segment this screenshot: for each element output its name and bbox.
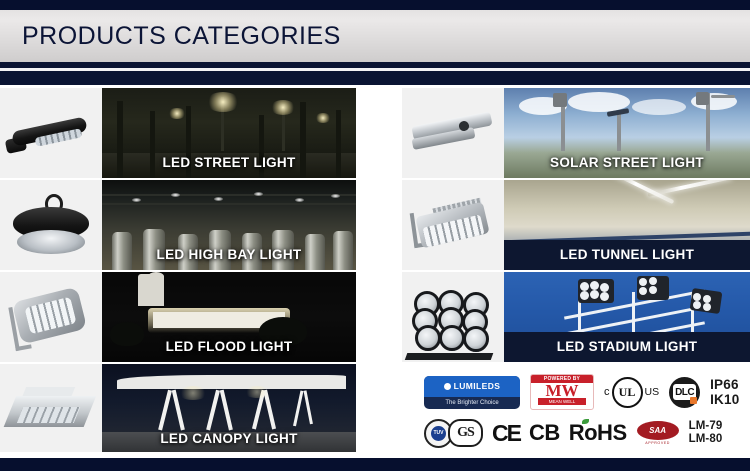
cul-suffix: US xyxy=(645,386,660,398)
rohs-mark: RoHS xyxy=(569,420,627,446)
category-tile-led-street-light[interactable]: LED STREET LIGHT xyxy=(0,88,356,178)
ip-rating: IP66 xyxy=(710,377,739,392)
ik-rating: IK10 xyxy=(710,392,739,407)
nine-head-stadium-fixture-icon xyxy=(402,272,504,362)
cul-us-logo: c UL US xyxy=(604,377,659,408)
product-image-stadium-light xyxy=(402,272,504,362)
right-category-column: SOLAR STREET LIGHT LED TUNNEL LIGHT xyxy=(402,88,750,364)
scene-image-stadium: LED STADIUM LIGHT xyxy=(504,272,750,362)
canopy-light-fixture-icon xyxy=(0,364,102,454)
category-tile-led-flood-light[interactable]: LED FLOOD LIGHT xyxy=(0,272,356,362)
meanwell-mark: MW xyxy=(545,383,578,398)
tile-caption: LED HIGH BAY LIGHT xyxy=(102,247,356,262)
rohs-label: RoHS xyxy=(569,420,627,445)
scene-image-high-bay: LED HIGH BAY LIGHT xyxy=(102,180,356,270)
product-image-tunnel-light xyxy=(402,180,504,270)
lm-80: LM-80 xyxy=(689,433,723,446)
lm-test-reports: LM-79 LM-80 xyxy=(689,420,723,446)
tile-caption: LED STADIUM LIGHT xyxy=(504,332,750,362)
saa-mark: SAA xyxy=(637,421,679,440)
category-tile-solar-street-light[interactable]: SOLAR STREET LIGHT xyxy=(402,88,750,178)
category-tile-led-stadium-light[interactable]: LED STADIUM LIGHT xyxy=(402,272,750,362)
product-image-canopy-light xyxy=(0,364,102,454)
meanwell-logo: POWERED BY MW MEAN WELL xyxy=(530,374,594,410)
tuv-gs-logo: TUV GS xyxy=(424,419,483,448)
tile-caption: LED STREET LIGHT xyxy=(102,155,356,170)
tile-caption: SOLAR STREET LIGHT xyxy=(504,155,750,170)
product-image-high-bay xyxy=(0,180,102,270)
dlc-logo: DLC xyxy=(669,377,700,408)
saa-sub: APPROVED xyxy=(645,441,670,445)
gs-mark: GS xyxy=(448,419,483,447)
integrated-solar-street-light-icon xyxy=(402,88,504,178)
lm-79: LM-79 xyxy=(689,420,723,433)
scene-image-tunnel: LED TUNNEL LIGHT xyxy=(504,180,750,270)
scene-image-flood: LED FLOOD LIGHT xyxy=(102,272,356,362)
certification-logos: LUMILEDS The Brighter Choice POWERED BY … xyxy=(424,372,746,454)
tile-caption: LED FLOOD LIGHT xyxy=(102,339,356,354)
tile-caption: LED CANOPY LIGHT xyxy=(102,431,356,446)
lumileds-dot-icon xyxy=(444,383,451,390)
footer-bar xyxy=(0,458,750,471)
street-light-fixture-icon xyxy=(0,88,102,178)
scene-image-canopy: LED CANOPY LIGHT xyxy=(102,364,356,454)
header-top-strip xyxy=(0,0,750,10)
category-tile-led-tunnel-light[interactable]: LED TUNNEL LIGHT xyxy=(402,180,750,270)
product-image-solar-street-light xyxy=(402,88,504,178)
scene-image-solar: SOLAR STREET LIGHT xyxy=(504,88,750,178)
product-image-street-light xyxy=(0,88,102,178)
tile-caption: LED TUNNEL LIGHT xyxy=(504,240,750,270)
header-rule-lower xyxy=(0,71,750,85)
product-image-flood-light xyxy=(0,272,102,362)
ul-mark: UL xyxy=(612,377,643,408)
left-category-column: LED STREET LIGHT xyxy=(0,88,356,456)
ufo-high-bay-fixture-icon xyxy=(0,180,102,270)
ip-ik-rating: IP66 IK10 xyxy=(710,377,739,407)
flood-light-fixture-icon xyxy=(0,272,102,362)
scene-image-street: LED STREET LIGHT xyxy=(102,88,356,178)
certification-row-2: TUV GS CE CB RoHS SAA APPROVED LM-79 LM-… xyxy=(424,412,746,454)
tunnel-light-fixture-icon xyxy=(402,180,504,270)
page-title: PRODUCTS CATEGORIES xyxy=(22,22,341,51)
lumileds-brand: LUMILEDS xyxy=(454,381,501,391)
lumileds-logo: LUMILEDS The Brighter Choice xyxy=(424,376,520,409)
dlc-accent-square xyxy=(690,397,697,404)
certification-row-1: LUMILEDS The Brighter Choice POWERED BY … xyxy=(424,372,746,412)
meanwell-sub: MEAN WELL xyxy=(538,398,586,405)
category-tile-led-canopy-light[interactable]: LED CANOPY LIGHT xyxy=(0,364,356,454)
category-tile-led-high-bay-light[interactable]: LED HIGH BAY LIGHT xyxy=(0,180,356,270)
saa-logo: SAA APPROVED xyxy=(636,421,680,445)
cb-mark: CB xyxy=(529,420,560,446)
tuv-mark: TUV xyxy=(431,426,446,441)
products-categories-page: PRODUCTS CATEGORIES xyxy=(0,0,750,471)
ce-mark: CE xyxy=(492,420,520,447)
lumileds-tagline: The Brighter Choice xyxy=(424,397,520,409)
cul-prefix: c xyxy=(604,386,610,398)
